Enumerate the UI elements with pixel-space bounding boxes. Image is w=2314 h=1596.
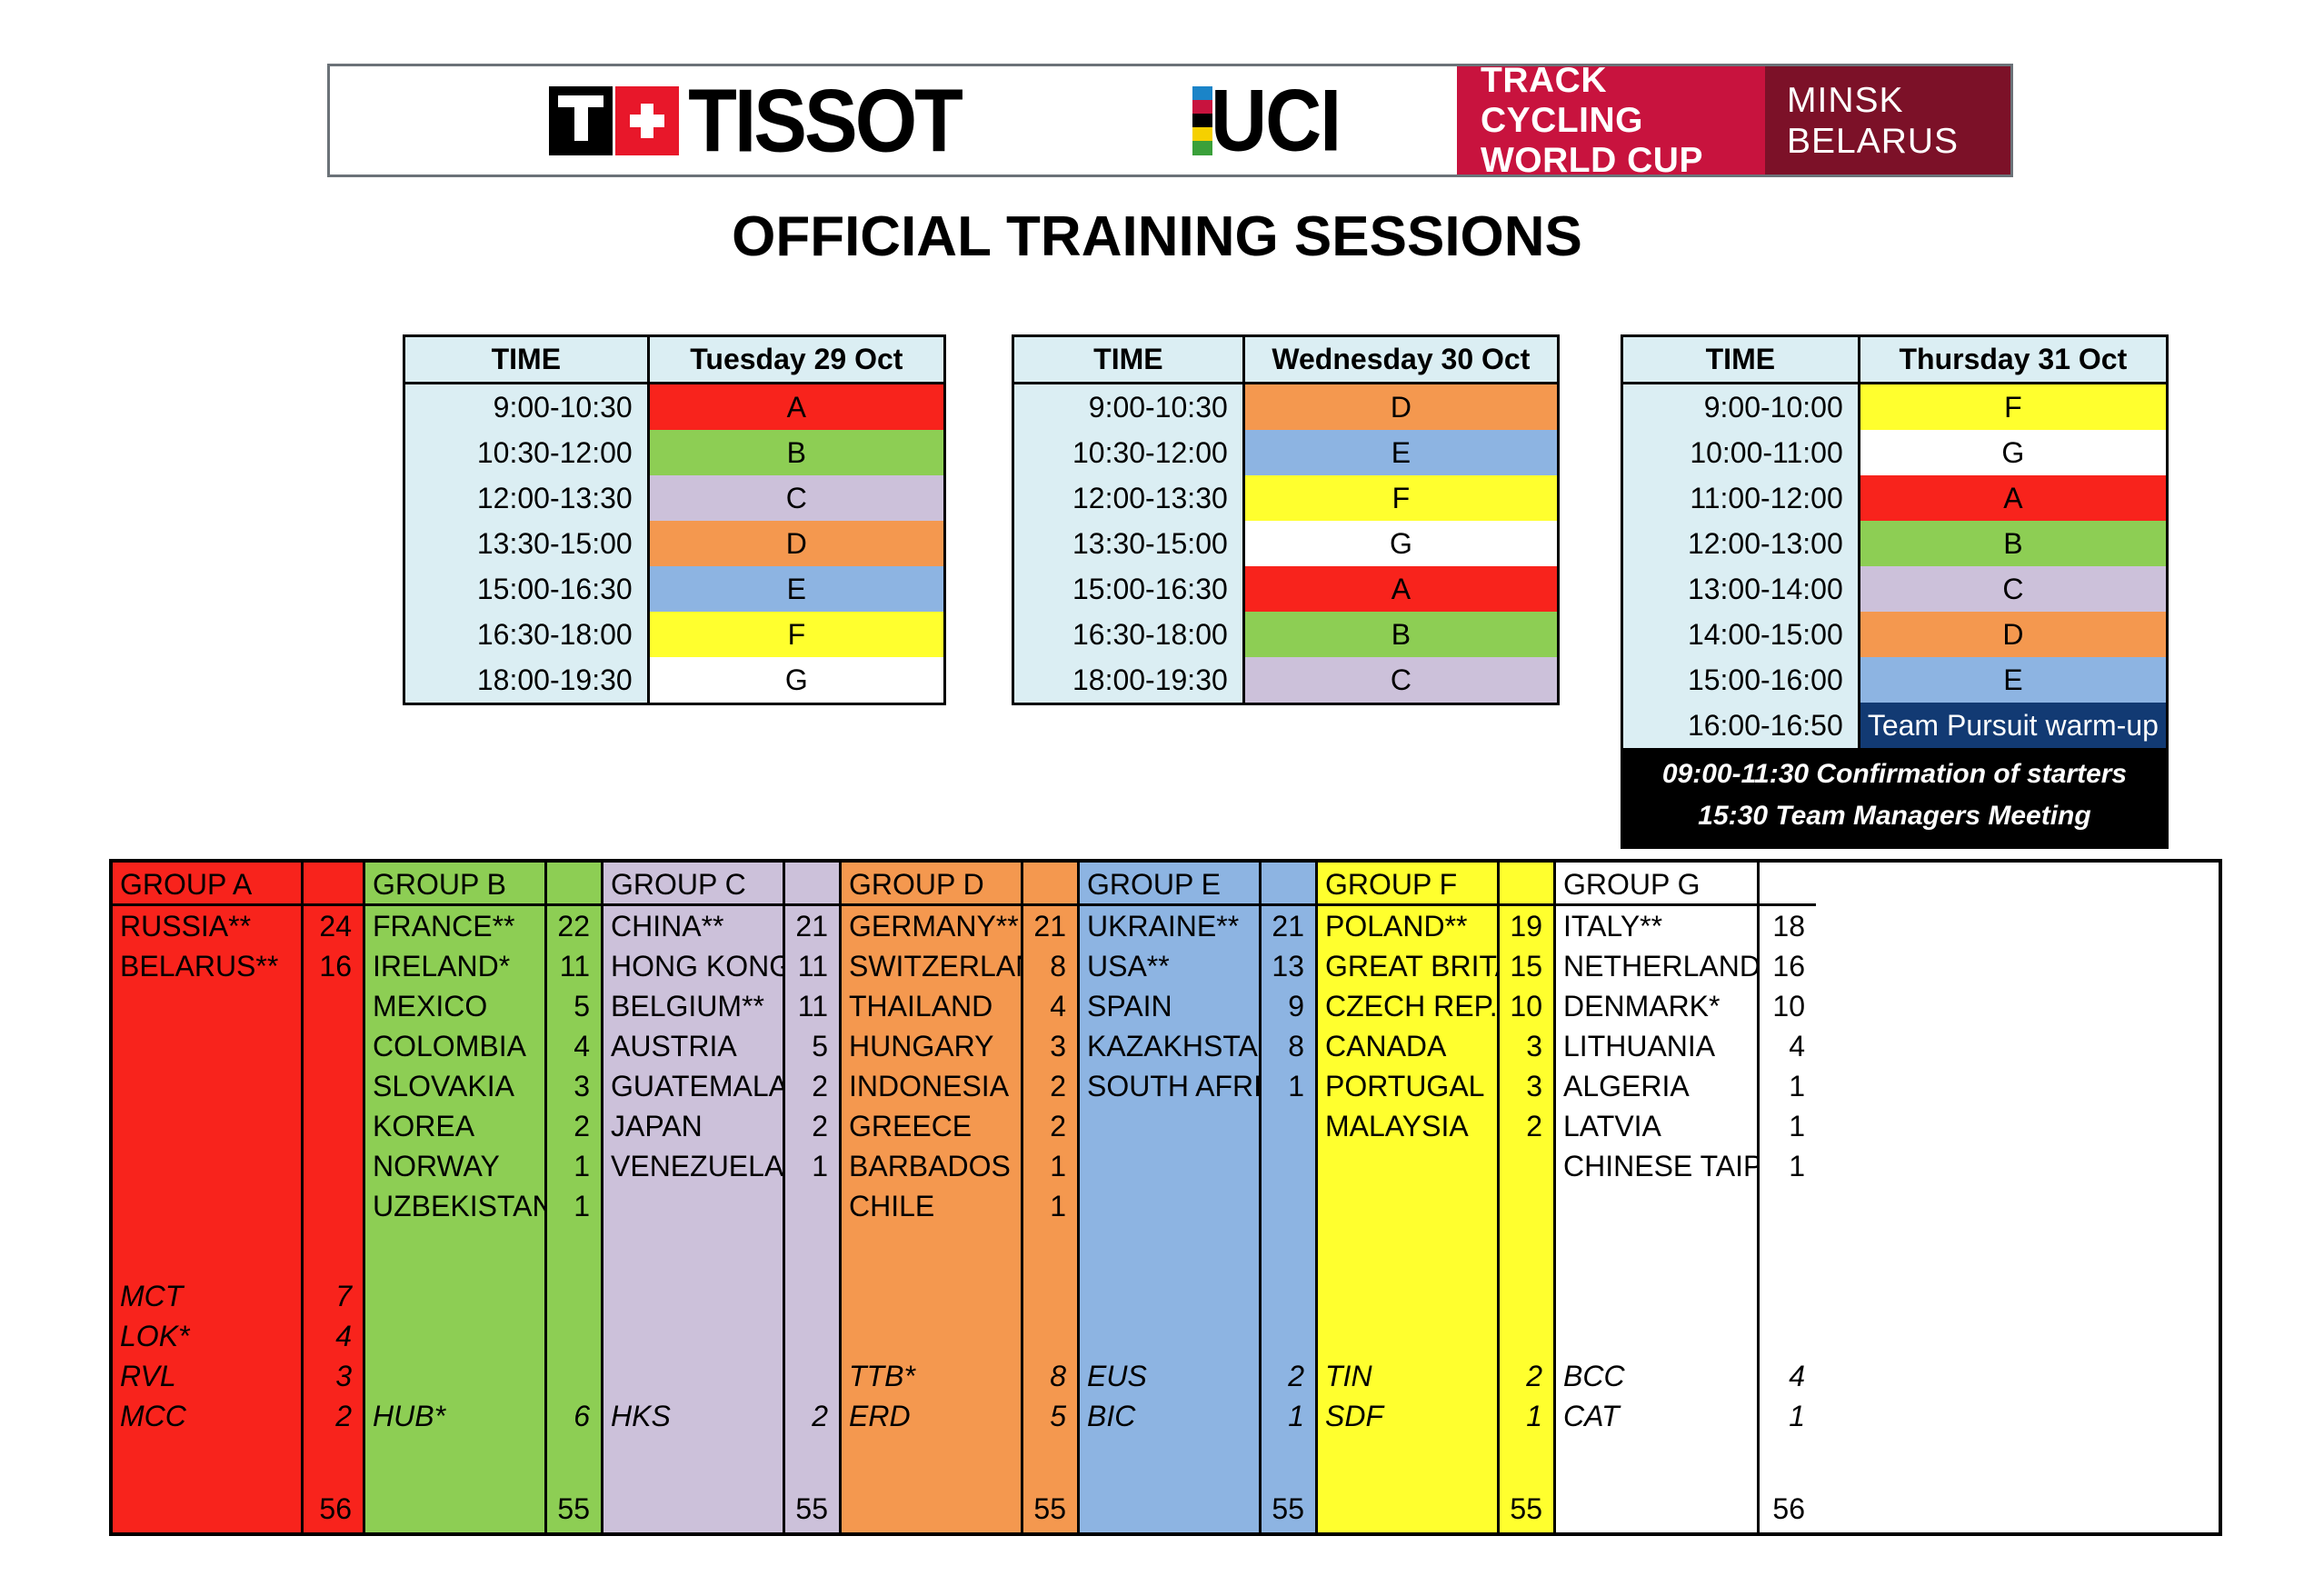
group-nation-name: VENEZUELA: [603, 1146, 783, 1186]
event-location: MINSK BELARUS: [1765, 66, 2010, 175]
group-nation-name: CHILE: [842, 1186, 1021, 1226]
group-header: GROUP D: [842, 863, 1021, 906]
group-nation-name: SOUTH AFRICA: [1080, 1066, 1259, 1106]
group-nation-name: HUNGARY: [842, 1026, 1021, 1066]
group-nation-count: [785, 1186, 839, 1226]
schedule-session-cell: F: [1245, 475, 1557, 521]
group-nation-name: [113, 1146, 301, 1186]
schedule-row: 12:00-13:30C: [405, 475, 943, 521]
group-header-spacer: [785, 863, 839, 906]
group-header: GROUP B: [365, 863, 544, 906]
schedule-row: 16:30-18:00F: [405, 612, 943, 657]
group-nation-name: DENMARK*: [1556, 986, 1757, 1026]
group-nation-count: 3: [547, 1066, 601, 1106]
group-nation-count: 5: [547, 986, 601, 1026]
schedule-time-slot: 16:30-18:00: [1014, 612, 1245, 657]
group-nation-count: [304, 1106, 363, 1146]
group-nation-name: JAPAN: [603, 1106, 783, 1146]
schedule-row: 10:30-12:00E: [1014, 430, 1557, 475]
group-club-count: [1760, 1276, 1816, 1316]
groups-allocation-table: GROUP ARUSSIA**BELARUS**MCTLOK*RVLMCC 24…: [109, 859, 2222, 1536]
schedule-session-cell: A: [1860, 475, 2166, 521]
schedule-day-header: Wednesday 30 Oct: [1245, 337, 1557, 382]
schedule-row: 10:00-11:00G: [1623, 430, 2166, 475]
group-count-column-group-b: 2211543211655: [547, 863, 603, 1532]
group-nation-count: [1262, 1186, 1315, 1226]
uci-logo: UCI: [1180, 66, 1457, 175]
schedule-session-cell: G: [1860, 430, 2166, 475]
group-club-name: [1318, 1316, 1497, 1356]
group-nation-count: [304, 1026, 363, 1066]
schedule-session-cell: F: [1860, 384, 2166, 430]
group-total-spacer: [1318, 1485, 1497, 1532]
schedule-time-slot: 18:00-19:30: [1014, 657, 1245, 703]
group-club-count: 2: [1500, 1356, 1553, 1396]
schedule-session-cell: C: [1245, 657, 1557, 703]
group-nation-name: LITHUANIA: [1556, 1026, 1757, 1066]
schedule-session-cell: B: [1860, 521, 2166, 566]
group-nation-count: 13: [1262, 946, 1315, 986]
group-nation-count: 5: [785, 1026, 839, 1066]
group-nation-count: [1500, 1146, 1553, 1186]
group-nation-name: BELARUS**: [113, 946, 301, 986]
schedule-note-line: 09:00-11:30 Confirmation of starters: [1623, 753, 2166, 795]
group-spacer: [603, 1436, 783, 1486]
group-spacer: [1262, 1436, 1315, 1486]
group-total-spacer: [1080, 1485, 1259, 1532]
group-total: 55: [547, 1485, 601, 1532]
group-club-name: [1556, 1276, 1757, 1316]
group-nation-count: 1: [1760, 1106, 1816, 1146]
schedule-table-1: TIMETuesday 29 Oct9:00-10:30A10:30-12:00…: [403, 334, 946, 705]
group-spacer: [842, 1226, 1021, 1276]
group-club-count: 5: [1023, 1396, 1077, 1436]
group-spacer: [1500, 1226, 1553, 1276]
schedule-session-cell: A: [650, 384, 943, 430]
schedule-session-cell: E: [1245, 430, 1557, 475]
group-club-name: TTB*: [842, 1356, 1021, 1396]
group-nation-name: BARBADOS: [842, 1146, 1021, 1186]
group-nation-name: UKRAINE**: [1080, 906, 1259, 946]
group-nation-count: 2: [785, 1106, 839, 1146]
group-total: 55: [1262, 1485, 1315, 1532]
uci-rainbow-stripes-icon: [1192, 86, 1212, 155]
schedule-time-slot: 9:00-10:30: [1014, 384, 1245, 430]
group-header-spacer: [1760, 863, 1816, 906]
group-club-count: 8: [1023, 1356, 1077, 1396]
group-nation-count: 4: [1023, 986, 1077, 1026]
schedule-session-cell: D: [1860, 612, 2166, 657]
group-column-group-b: GROUP BFRANCE**IRELAND*MEXICOCOLOMBIASLO…: [365, 863, 547, 1532]
group-spacer: [842, 1436, 1021, 1486]
schedule-time-slot: 10:30-12:00: [1014, 430, 1245, 475]
group-nation-count: 21: [785, 906, 839, 946]
group-nation-count: 1: [1023, 1186, 1077, 1226]
group-nation-count: 21: [1262, 906, 1315, 946]
group-header: GROUP F: [1318, 863, 1497, 906]
schedule-time-header: TIME: [405, 337, 650, 382]
group-club-count: 4: [304, 1316, 363, 1356]
schedule-row: 12:00-13:30F: [1014, 475, 1557, 521]
group-header: GROUP C: [603, 863, 783, 906]
schedule-time-slot: 15:00-16:00: [1623, 657, 1860, 703]
swiss-cross-icon: [615, 86, 679, 155]
group-nation-name: SLOVAKIA: [365, 1066, 544, 1106]
schedule-session-cell: E: [1860, 657, 2166, 703]
group-column-group-g: GROUP GITALY**NETHERLANDSDENMARK*LITHUAN…: [1556, 863, 1760, 1532]
schedule-row: 16:00-16:50Team Pursuit warm-up: [1623, 703, 2166, 748]
group-spacer: [1500, 1436, 1553, 1486]
group-club-name: BIC: [1080, 1396, 1259, 1436]
group-club-name: ERD: [842, 1396, 1021, 1436]
group-spacer: [1080, 1226, 1259, 1276]
group-column-group-e: GROUP EUKRAINE**USA**SPAINKAZAKHSTANSOUT…: [1080, 863, 1262, 1532]
group-nation-name: FRANCE**: [365, 906, 544, 946]
group-nation-name: GREAT BRITAIN**: [1318, 946, 1497, 986]
group-nation-count: 11: [785, 946, 839, 986]
group-nation-count: 1: [1023, 1146, 1077, 1186]
schedule-day-header: Thursday 31 Oct: [1860, 337, 2166, 382]
schedule-table-2: TIMEWednesday 30 Oct9:00-10:30D10:30-12:…: [1012, 334, 1560, 705]
group-club-count: 4: [1760, 1356, 1816, 1396]
group-nation-name: PORTUGAL: [1318, 1066, 1497, 1106]
group-spacer: [547, 1226, 601, 1276]
schedule-time-slot: 15:00-16:30: [1014, 566, 1245, 612]
schedule-header-row: TIMETuesday 29 Oct: [405, 337, 943, 384]
schedule-session-cell: G: [650, 657, 943, 703]
group-spacer: [1556, 1436, 1757, 1486]
group-nation-count: 11: [785, 986, 839, 1026]
group-club-count: [785, 1276, 839, 1316]
schedule-time-slot: 9:00-10:00: [1623, 384, 1860, 430]
event-logo-bar: TISSOT UCI TRACK CYCLING WORLD CUP MINSK…: [327, 64, 2013, 177]
group-nation-count: 1: [785, 1146, 839, 1186]
group-club-name: LOK*: [113, 1316, 301, 1356]
schedule-row: 15:00-16:30A: [1014, 566, 1557, 612]
group-club-count: [547, 1316, 601, 1356]
schedule-time-slot: 12:00-13:30: [1014, 475, 1245, 521]
group-club-name: MCC: [113, 1396, 301, 1436]
schedule-time-slot: 18:00-19:30: [405, 657, 650, 703]
group-spacer: [1262, 1226, 1315, 1276]
schedule-time-slot: 14:00-15:00: [1623, 612, 1860, 657]
group-nation-name: THAILAND: [842, 986, 1021, 1026]
schedule-session-cell: Team Pursuit warm-up: [1860, 703, 2166, 748]
group-header: GROUP A: [113, 863, 301, 906]
group-header: GROUP G: [1556, 863, 1757, 906]
schedule-row: 9:00-10:00F: [1623, 384, 2166, 430]
schedule-row: 14:00-15:00D: [1623, 612, 2166, 657]
group-club-name: [1080, 1316, 1259, 1356]
group-nation-count: 2: [1023, 1106, 1077, 1146]
schedule-time-slot: 9:00-10:30: [405, 384, 650, 430]
group-total-spacer: [365, 1485, 544, 1532]
group-nation-count: [304, 1146, 363, 1186]
group-nation-count: [1262, 1146, 1315, 1186]
group-club-name: [365, 1276, 544, 1316]
group-nation-name: LATVIA: [1556, 1106, 1757, 1146]
event-country: BELARUS: [1787, 121, 2010, 162]
schedule-session-cell: B: [1245, 612, 1557, 657]
group-count-column-group-f: 1915103322155: [1500, 863, 1556, 1532]
group-header-spacer: [1023, 863, 1077, 906]
group-nation-name: CZECH REP.: [1318, 986, 1497, 1026]
group-club-name: BCC: [1556, 1356, 1757, 1396]
schedule-session-cell: A: [1245, 566, 1557, 612]
group-nation-count: 22: [547, 906, 601, 946]
group-club-count: [785, 1356, 839, 1396]
schedule-session-cell: C: [1860, 566, 2166, 612]
tissot-logo: TISSOT: [330, 66, 1180, 175]
group-nation-name: KAZAKHSTAN: [1080, 1026, 1259, 1066]
group-club-count: 2: [785, 1396, 839, 1436]
group-nation-count: 2: [785, 1066, 839, 1106]
group-club-count: 7: [304, 1276, 363, 1316]
group-total: 56: [1760, 1485, 1816, 1532]
schedule-time-slot: 13:30-15:00: [405, 521, 650, 566]
schedule-time-slot: 13:00-14:00: [1623, 566, 1860, 612]
group-header: GROUP E: [1080, 863, 1259, 906]
event-city: MINSK: [1787, 80, 2010, 121]
group-club-name: MCT: [113, 1276, 301, 1316]
group-nation-count: 1: [1262, 1066, 1315, 1106]
group-nation-count: 3: [1023, 1026, 1077, 1066]
group-club-count: [1500, 1276, 1553, 1316]
schedule-time-slot: 12:00-13:00: [1623, 521, 1860, 566]
group-nation-count: 24: [304, 906, 363, 946]
group-nation-count: 10: [1760, 986, 1816, 1026]
group-club-name: TIN: [1318, 1356, 1497, 1396]
group-spacer: [1318, 1226, 1497, 1276]
group-spacer: [1318, 1436, 1497, 1486]
group-club-name: [365, 1316, 544, 1356]
group-header-spacer: [1262, 863, 1315, 906]
group-nation-name: CHINA**: [603, 906, 783, 946]
group-nation-name: GERMANY**: [842, 906, 1021, 946]
group-club-count: 1: [1500, 1396, 1553, 1436]
group-nation-count: 3: [1500, 1066, 1553, 1106]
group-spacer: [1556, 1226, 1757, 1276]
group-nation-name: UZBEKISTAN: [365, 1186, 544, 1226]
group-nation-count: 8: [1262, 1026, 1315, 1066]
group-nation-name: [603, 1186, 783, 1226]
group-nation-name: CHINESE TAIPEI: [1556, 1146, 1757, 1186]
group-club-name: [842, 1316, 1021, 1356]
group-spacer: [603, 1226, 783, 1276]
group-nation-count: 4: [547, 1026, 601, 1066]
group-nation-count: 19: [1500, 906, 1553, 946]
group-club-name: [603, 1356, 783, 1396]
group-club-name: [603, 1316, 783, 1356]
tissot-wordmark: TISSOT: [688, 82, 961, 159]
group-nation-name: [113, 1186, 301, 1226]
group-nation-name: ITALY**: [1556, 906, 1757, 946]
group-nation-name: IRELAND*: [365, 946, 544, 986]
group-nation-name: MEXICO: [365, 986, 544, 1026]
group-column-group-c: GROUP CCHINA**HONG KONGBELGIUM**AUSTRIAG…: [603, 863, 785, 1532]
group-spacer: [1760, 1436, 1816, 1486]
group-spacer: [1760, 1226, 1816, 1276]
schedule-row: 9:00-10:30A: [405, 384, 943, 430]
group-spacer: [304, 1226, 363, 1276]
group-nation-name: ALGERIA: [1556, 1066, 1757, 1106]
group-spacer: [1023, 1226, 1077, 1276]
schedule-session-cell: G: [1245, 521, 1557, 566]
group-club-count: [1500, 1316, 1553, 1356]
group-club-count: [547, 1276, 601, 1316]
group-nation-count: [1500, 1186, 1553, 1226]
group-total-spacer: [1556, 1485, 1757, 1532]
group-club-name: HKS: [603, 1396, 783, 1436]
group-nation-name: HONG KONG: [603, 946, 783, 986]
group-nation-count: 3: [1500, 1026, 1553, 1066]
group-nation-count: 16: [1760, 946, 1816, 986]
group-club-name: CAT: [1556, 1396, 1757, 1436]
group-club-name: [1318, 1276, 1497, 1316]
group-nation-count: 10: [1500, 986, 1553, 1026]
group-club-count: [785, 1316, 839, 1356]
schedule-row: 12:00-13:00B: [1623, 521, 2166, 566]
event-name-line2: WORLD CUP: [1481, 141, 1765, 181]
schedule-row: 18:00-19:30C: [1014, 657, 1557, 703]
group-spacer: [365, 1436, 544, 1486]
event-name-line1: TRACK CYCLING: [1481, 61, 1765, 141]
group-nation-name: BELGIUM**: [603, 986, 783, 1026]
group-spacer: [785, 1226, 839, 1276]
schedule-time-slot: 15:00-16:30: [405, 566, 650, 612]
group-nation-count: [1760, 1186, 1816, 1226]
schedule-time-slot: 13:30-15:00: [1014, 521, 1245, 566]
group-nation-name: [1556, 1186, 1757, 1226]
group-header-spacer: [547, 863, 601, 906]
group-spacer: [113, 1436, 301, 1486]
group-column-group-d: GROUP DGERMANY**SWITZERLAND*THAILANDHUNG…: [842, 863, 1023, 1532]
schedule-row: 16:30-18:00B: [1014, 612, 1557, 657]
group-club-name: SDF: [1318, 1396, 1497, 1436]
group-club-name: [603, 1276, 783, 1316]
schedule-row: 18:00-19:30G: [405, 657, 943, 703]
group-nation-count: 4: [1760, 1026, 1816, 1066]
group-nation-count: [304, 1186, 363, 1226]
tissot-t-icon: [549, 86, 613, 155]
group-total-spacer: [113, 1485, 301, 1532]
schedule-session-cell: C: [650, 475, 943, 521]
group-nation-count: 1: [547, 1146, 601, 1186]
group-nation-name: [113, 1066, 301, 1106]
schedule-row: 15:00-16:30E: [405, 566, 943, 612]
group-nation-name: [113, 1026, 301, 1066]
group-nation-name: INDONESIA: [842, 1066, 1021, 1106]
schedule-time-slot: 10:30-12:00: [405, 430, 650, 475]
group-spacer: [1023, 1436, 1077, 1486]
schedule-note-line: 15:30 Team Managers Meeting: [1623, 795, 2166, 837]
group-club-count: [1262, 1316, 1315, 1356]
schedule-row: 13:30-15:00D: [405, 521, 943, 566]
group-nation-name: CANADA: [1318, 1026, 1497, 1066]
group-nation-count: 1: [1760, 1146, 1816, 1186]
schedule-notes: 09:00-11:30 Confirmation of starters15:3…: [1623, 748, 2166, 846]
group-club-name: RVL: [113, 1356, 301, 1396]
group-club-name: EUS: [1080, 1356, 1259, 1396]
group-club-count: 2: [304, 1396, 363, 1436]
group-nation-count: 21: [1023, 906, 1077, 946]
schedule-day-header: Tuesday 29 Oct: [650, 337, 943, 382]
group-club-name: [1080, 1276, 1259, 1316]
group-club-count: [1023, 1276, 1077, 1316]
group-club-count: 6: [547, 1396, 601, 1436]
group-spacer: [785, 1436, 839, 1486]
schedule-row: 15:00-16:00E: [1623, 657, 2166, 703]
schedule-header-row: TIMEThursday 31 Oct: [1623, 337, 2166, 384]
group-nation-name: POLAND**: [1318, 906, 1497, 946]
group-club-count: 2: [1262, 1356, 1315, 1396]
schedule-time-header: TIME: [1623, 337, 1860, 382]
schedule-time-header: TIME: [1014, 337, 1245, 382]
schedule-row: 9:00-10:30D: [1014, 384, 1557, 430]
group-nation-name: [113, 986, 301, 1026]
group-nation-name: [113, 1106, 301, 1146]
group-nation-count: 2: [1500, 1106, 1553, 1146]
group-nation-name: NETHERLANDS: [1556, 946, 1757, 986]
group-club-count: [547, 1356, 601, 1396]
group-spacer: [1080, 1436, 1259, 1486]
group-count-column-group-a: 2416743256: [304, 863, 365, 1532]
group-spacer: [365, 1226, 544, 1276]
schedule-time-slot: 16:30-18:00: [405, 612, 650, 657]
uci-wordmark: UCI: [1211, 82, 1340, 159]
group-spacer: [547, 1436, 601, 1486]
group-nation-name: MALAYSIA: [1318, 1106, 1497, 1146]
group-club-count: 3: [304, 1356, 363, 1396]
group-nation-name: [1080, 1146, 1259, 1186]
group-club-name: [365, 1356, 544, 1396]
group-club-name: [1556, 1316, 1757, 1356]
group-spacer: [113, 1226, 301, 1276]
page-title: OFFICIAL TRAINING SESSIONS: [0, 204, 2314, 269]
group-nation-name: GREECE: [842, 1106, 1021, 1146]
group-club-count: [1023, 1316, 1077, 1356]
schedule-session-cell: E: [650, 566, 943, 612]
schedule-row: 11:00-12:00A: [1623, 475, 2166, 521]
group-nation-name: USA**: [1080, 946, 1259, 986]
group-club-count: 1: [1262, 1396, 1315, 1436]
group-nation-name: COLOMBIA: [365, 1026, 544, 1066]
group-nation-name: [1318, 1186, 1497, 1226]
schedule-row: 10:30-12:00B: [405, 430, 943, 475]
group-club-count: [1760, 1316, 1816, 1356]
schedule-time-slot: 12:00-13:30: [405, 475, 650, 521]
group-nation-count: 2: [1023, 1066, 1077, 1106]
group-spacer: [304, 1436, 363, 1486]
group-nation-name: RUSSIA**: [113, 906, 301, 946]
group-total-spacer: [842, 1485, 1021, 1532]
group-total: 55: [1023, 1485, 1077, 1532]
schedule-row: 13:30-15:00G: [1014, 521, 1557, 566]
group-club-name: [842, 1276, 1021, 1316]
group-nation-name: SWITZERLAND*: [842, 946, 1021, 986]
group-nation-name: SPAIN: [1080, 986, 1259, 1026]
schedule-session-cell: D: [650, 521, 943, 566]
schedule-session-cell: B: [650, 430, 943, 475]
group-column-group-a: GROUP ARUSSIA**BELARUS**MCTLOK*RVLMCC: [113, 863, 304, 1532]
schedule-row: 13:00-14:00C: [1623, 566, 2166, 612]
group-club-count: 1: [1760, 1396, 1816, 1436]
group-nation-count: 2: [547, 1106, 601, 1146]
group-nation-count: 1: [547, 1186, 601, 1226]
group-nation-count: 16: [304, 946, 363, 986]
group-count-column-group-d: 2184322118555: [1023, 863, 1080, 1532]
group-count-column-group-g: 18161041114156: [1760, 863, 1816, 1532]
